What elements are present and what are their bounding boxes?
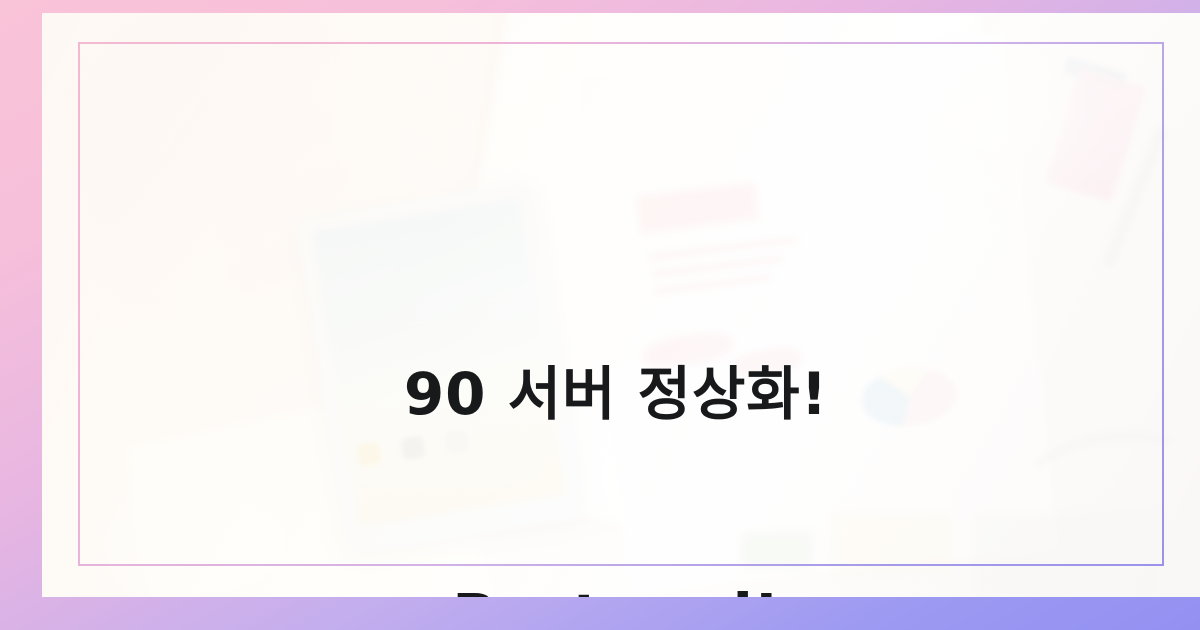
headline-line-1: 90 서버 정상화! (42, 357, 1190, 431)
headline-block: 90 서버 정상화! Restored! Finally OK! (42, 209, 1200, 597)
headline-line-2: Restored! (42, 579, 1190, 597)
poster-card: 90 서버 정상화! Restored! Finally OK! (42, 13, 1200, 597)
poster-canvas: 90 서버 정상화! Restored! Finally OK! (0, 0, 1200, 630)
